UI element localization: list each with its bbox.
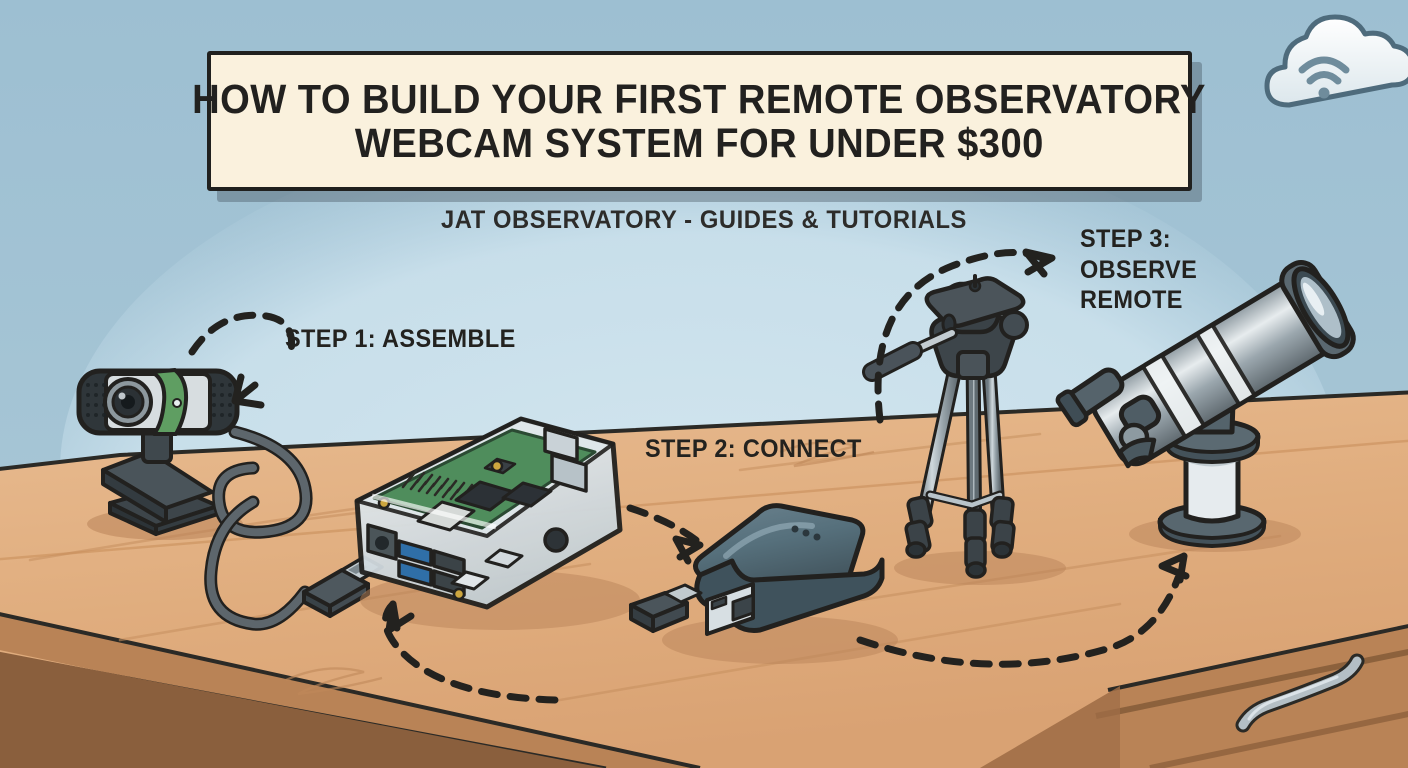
pi-screw-3 (454, 589, 464, 599)
title-line-2: WEBCAM SYSTEM FOR UNDER $300 (355, 121, 1044, 165)
tripod-tilt-knob[interactable] (1001, 312, 1027, 338)
tripod-hub-lower (958, 352, 988, 378)
pi-screw-2 (492, 461, 502, 471)
step-label-2: STEP 2: CONNECT (645, 434, 862, 465)
title-banner: HOW TO BUILD YOUR FIRST REMOTE OBSERVATO… (207, 51, 1192, 191)
infographic-canvas: HOW TO BUILD YOUR FIRST REMOTE OBSERVATO… (0, 0, 1408, 768)
webcam-indicator-led (173, 399, 181, 407)
step-label-1: STEP 1: ASSEMBLE (285, 324, 516, 355)
title-line-1: HOW TO BUILD YOUR FIRST REMOTE OBSERVATO… (193, 77, 1207, 121)
step-label-3: STEP 3: OBSERVE REMOTE (1080, 224, 1197, 316)
pi-audio-jack (545, 529, 567, 551)
webcam-body (79, 370, 237, 434)
